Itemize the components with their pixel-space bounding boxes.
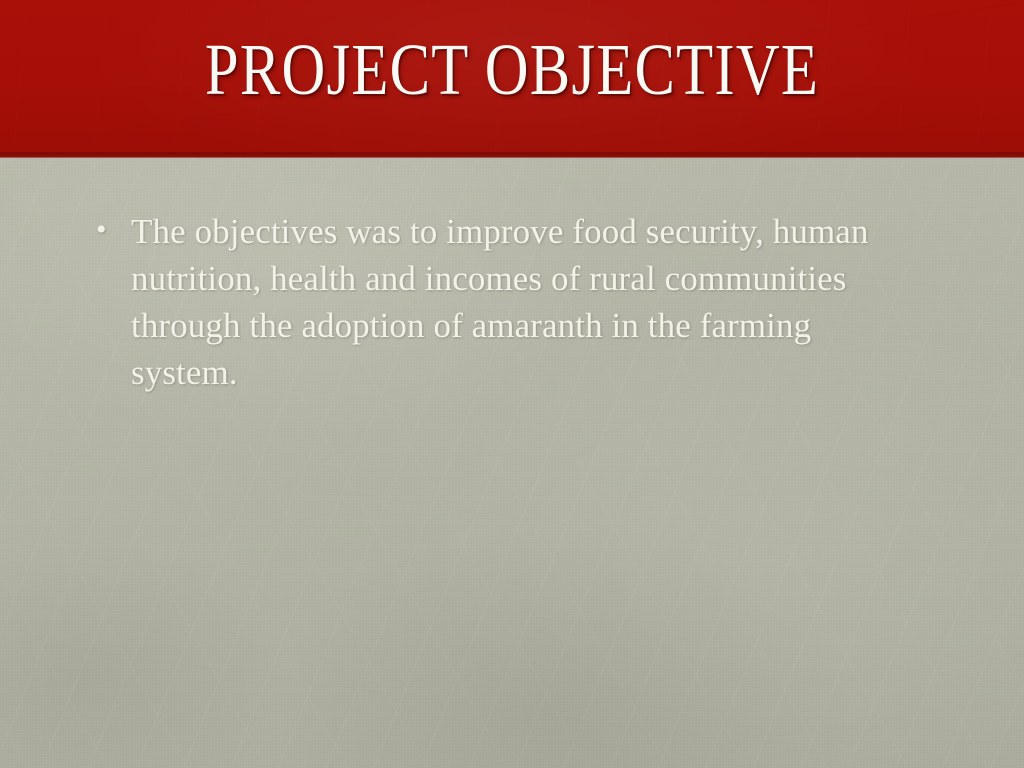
bullet-item-text: The objectives was to improve food secur… <box>131 208 911 396</box>
slide-body-content: • The objectives was to improve food sec… <box>96 208 926 396</box>
presentation-slide: Project Objective • The objectives was t… <box>0 0 1024 768</box>
bullet-point-icon: • <box>96 208 131 230</box>
slide-title: Project Objective <box>87 33 937 106</box>
title-banner-bottom-rule-light <box>0 157 1024 158</box>
bullet-list-item: • The objectives was to improve food sec… <box>96 208 926 396</box>
